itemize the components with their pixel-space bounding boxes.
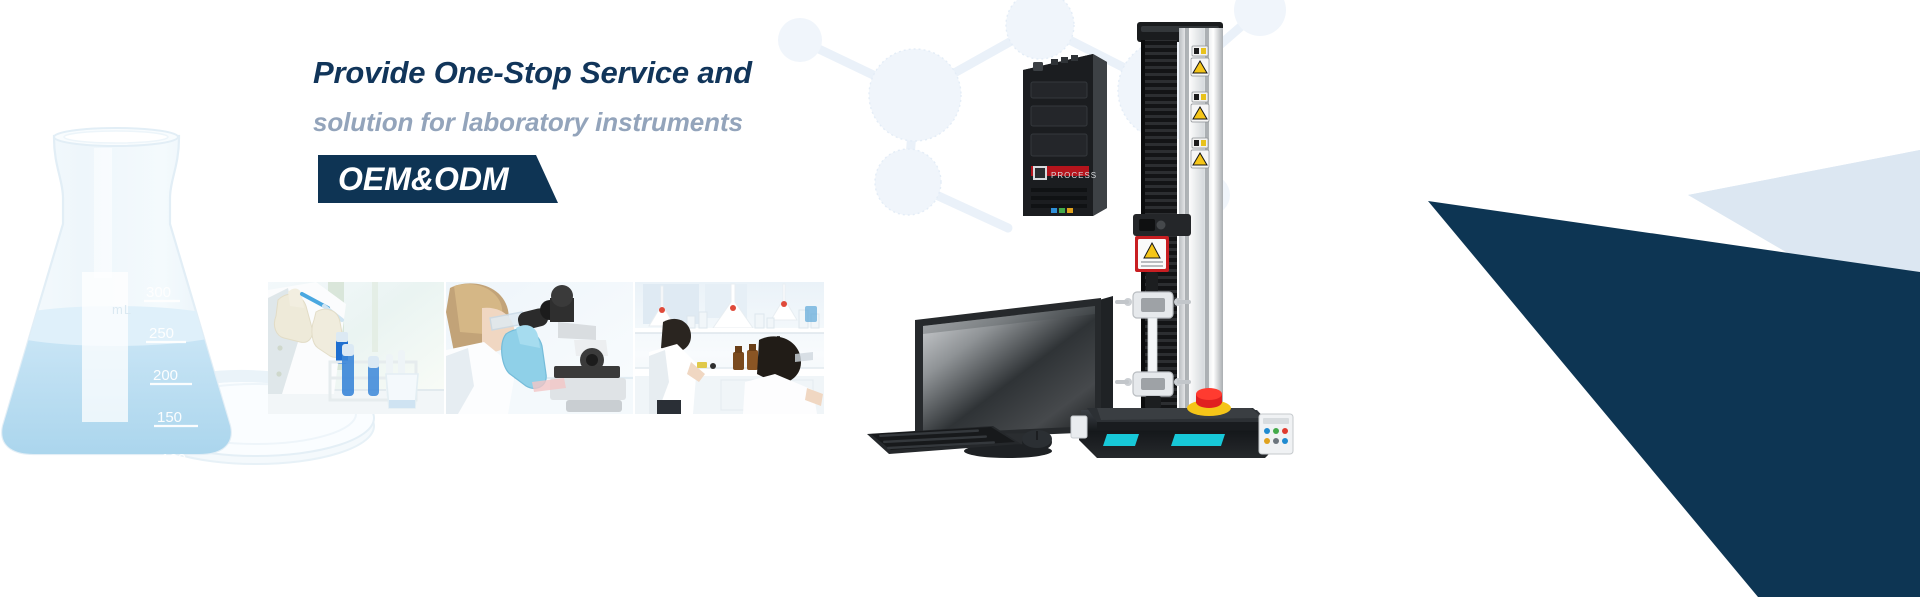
erlenmeyer-flask: mL 300 250 200 150 100: [0, 128, 244, 468]
decorative-triangles: [1400, 0, 1920, 597]
cyan-accent-vents: [1103, 434, 1225, 446]
photo-pipetting-test-tubes: [268, 282, 444, 414]
svg-text:PROCESS: PROCESS: [1051, 171, 1097, 180]
headline-line-1: Provide One-Stop Service and: [313, 57, 933, 88]
light-blue-triangle: [1688, 150, 1920, 330]
badge-label: OEM&ODM: [318, 155, 543, 203]
svg-text:250: 250: [149, 325, 174, 342]
navy-arrow: [1428, 201, 1920, 597]
photo-lab-bench-instruments: [635, 282, 824, 414]
svg-text:200: 200: [153, 367, 178, 384]
svg-text:100: 100: [161, 451, 186, 468]
svg-text:300: 300: [146, 284, 171, 301]
computer-tower: PROCESS: [1023, 54, 1107, 216]
keyboard: [867, 426, 1021, 454]
headline-block: Provide One-Stop Service and solution fo…: [313, 57, 933, 203]
warning-labels: [1191, 46, 1209, 168]
desktop-monitor: [915, 296, 1113, 458]
emergency-stop-button: [1187, 388, 1231, 416]
mouse: [1022, 430, 1052, 451]
universal-tensile-testing-machine: [1071, 22, 1293, 458]
photo-strip: [268, 282, 824, 414]
control-panel: [1259, 414, 1293, 454]
light-blue-triangle-2: [1688, 150, 1920, 215]
headline-line-2: solution for laboratory instruments: [313, 109, 933, 135]
hero-banner: mL 300 250 200 150 100: [0, 0, 1920, 597]
svg-text:150: 150: [157, 409, 182, 426]
svg-text:mL: mL: [112, 302, 132, 317]
oem-odm-badge[interactable]: OEM&ODM: [318, 155, 543, 203]
flask-graduation-list: 300: [0, 0, 1, 1]
photo-microscope-researcher: [446, 282, 633, 414]
